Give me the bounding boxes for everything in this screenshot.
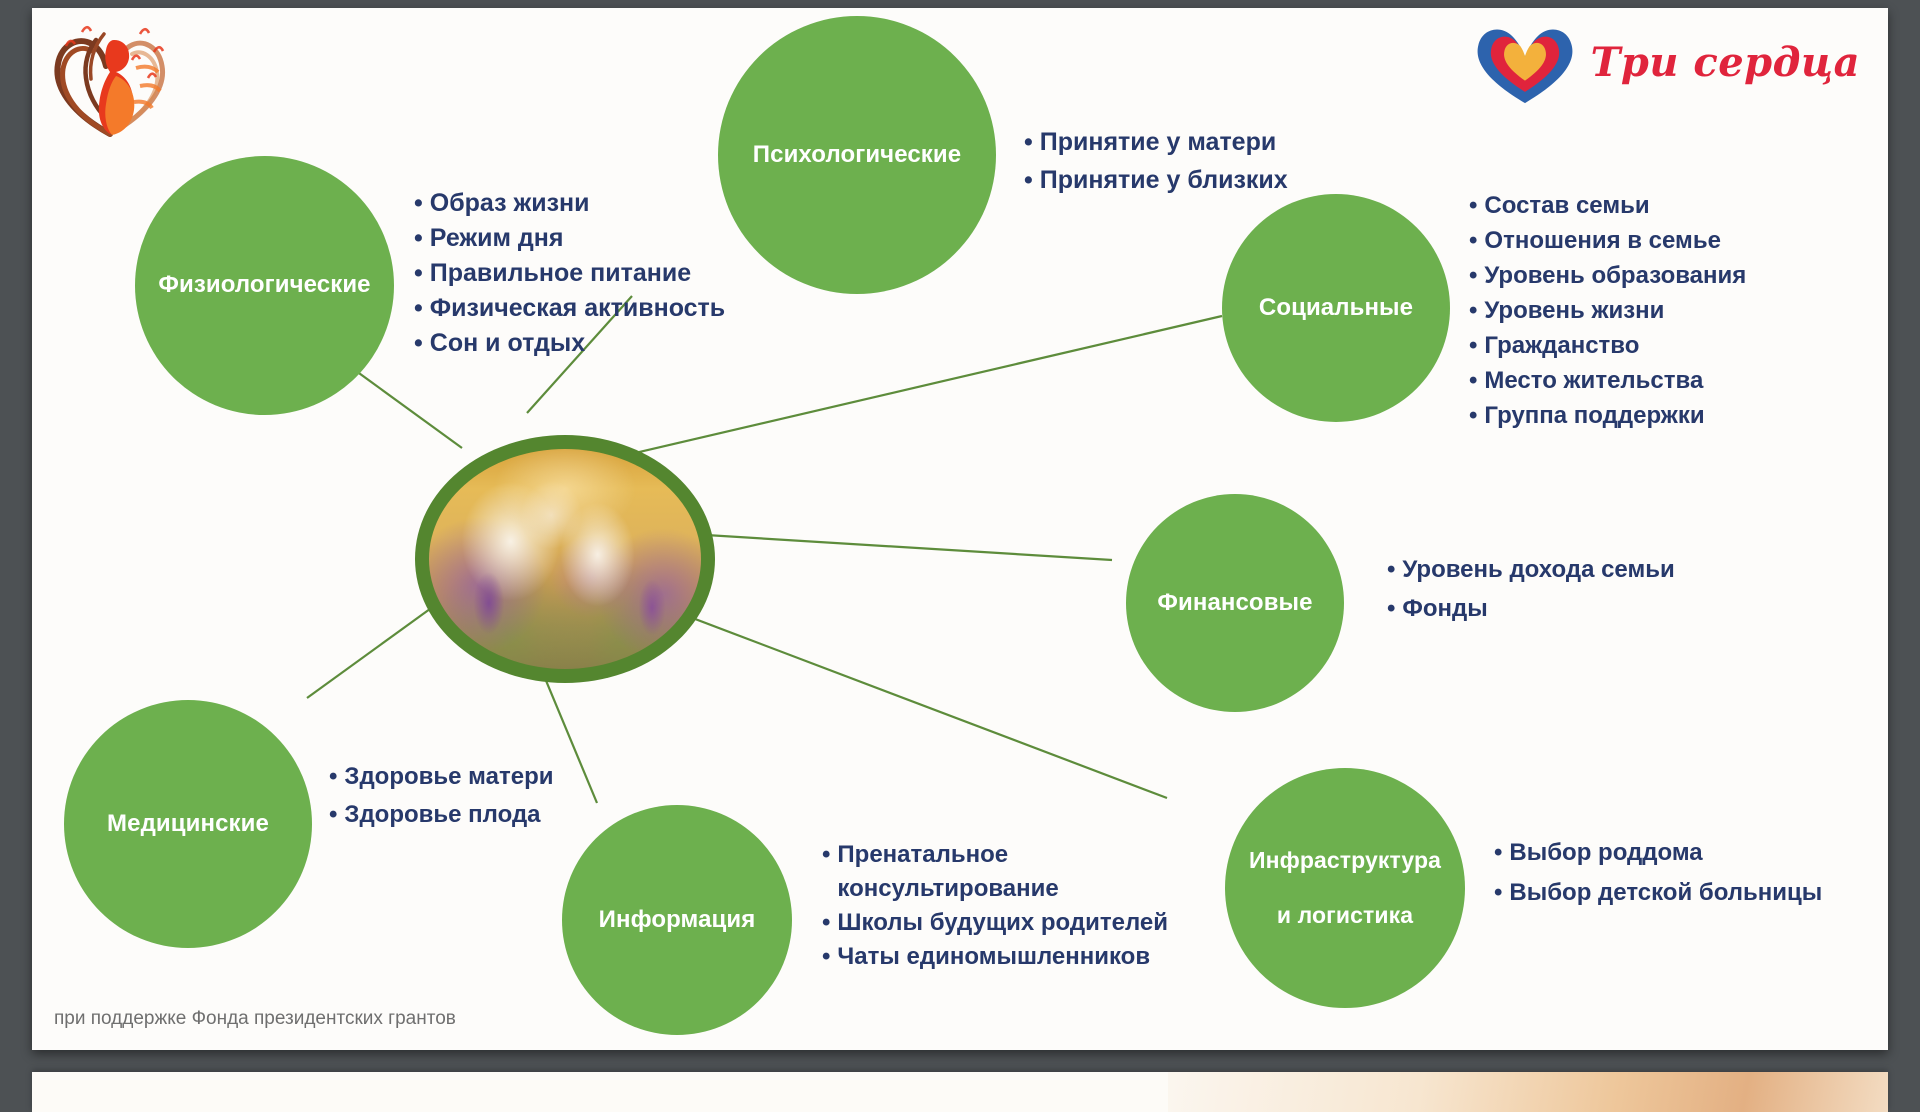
list-information: •Пренатальное консультирование •Школы бу… — [822, 838, 1192, 974]
bullet-icon: • — [1469, 398, 1477, 433]
list-item: •Отношения в семье — [1469, 223, 1746, 258]
family-photo-node — [415, 435, 715, 683]
bullet-icon: • — [1469, 328, 1477, 363]
list-social: •Состав семьи •Отношения в семье •Уровен… — [1469, 188, 1746, 433]
list-item: •Фонды — [1387, 589, 1675, 628]
bullet-icon: • — [1469, 258, 1477, 293]
list-physiological: •Образ жизни •Режим дня •Правильное пита… — [414, 186, 725, 361]
list-item: •Уровень жизни — [1469, 293, 1746, 328]
bullet-icon: • — [1387, 589, 1395, 628]
list-item: •Чаты единомышленников — [822, 940, 1192, 974]
list-item: •Место жительства — [1469, 363, 1746, 398]
list-item: •Гражданство — [1469, 328, 1746, 363]
list-item: •Физическая активность — [414, 291, 725, 326]
footer-credit: при поддержке Фонда президентских гранто… — [54, 1008, 456, 1030]
family-photo — [429, 449, 701, 669]
node-financial[interactable]: Финансовые — [1126, 494, 1344, 712]
screen: Три сердца Физиологические •Образ жизни … — [0, 0, 1920, 1080]
bullet-icon: • — [1494, 833, 1502, 873]
list-medical: •Здоровье матери •Здоровье плода — [329, 758, 553, 834]
logo-wordmark: Три сердца — [1591, 39, 1860, 86]
list-item: •Сон и отдых — [414, 326, 725, 361]
bullet-icon: • — [822, 906, 830, 940]
pregnant-woman-heart-logo — [44, 16, 176, 144]
list-item: •Образ жизни — [414, 186, 725, 221]
bullet-icon: • — [1469, 188, 1477, 223]
list-item: •Выбор роддома — [1494, 833, 1822, 873]
node-physiological[interactable]: Физиологические — [135, 156, 394, 415]
bullet-icon: • — [1469, 223, 1477, 258]
bullet-icon: • — [414, 291, 423, 326]
bullet-icon: • — [822, 838, 830, 872]
bullet-icon: • — [1469, 363, 1477, 398]
list-item: •Группа поддержки — [1469, 398, 1746, 433]
node-infrastructure[interactable]: Инфраструктураи логистика — [1225, 768, 1465, 1008]
list-item: •Здоровье плода — [329, 796, 553, 834]
list-item: •Принятие у матери — [1024, 123, 1288, 161]
list-item: •Выбор детской больницы — [1494, 873, 1822, 913]
node-medical[interactable]: Медицинские — [64, 700, 312, 948]
node-medical-label: Медицинские — [99, 810, 277, 838]
bullet-icon: • — [822, 940, 830, 974]
bullet-icon: • — [1494, 873, 1502, 913]
list-item: •Режим дня — [414, 221, 725, 256]
node-infrastructure-label: Инфраструктураи логистика — [1233, 847, 1457, 928]
bullet-icon: • — [1469, 293, 1477, 328]
bullet-icon: • — [1024, 161, 1033, 199]
list-financial: •Уровень дохода семьи •Фонды — [1387, 550, 1675, 628]
list-item: •Уровень образования — [1469, 258, 1746, 293]
list-item: •Правильное питание — [414, 256, 725, 291]
node-psychological[interactable]: Психологические — [718, 16, 996, 294]
list-item: •Пренатальное консультирование — [822, 838, 1192, 906]
list-item: •Уровень дохода семьи — [1387, 550, 1675, 589]
bullet-icon: • — [414, 221, 423, 256]
bullet-icon: • — [414, 326, 423, 361]
list-item: •Состав семьи — [1469, 188, 1746, 223]
bullet-icon: • — [414, 186, 423, 221]
list-psychological: •Принятие у матери •Принятие у близких — [1024, 123, 1288, 199]
bullet-icon: • — [329, 758, 337, 796]
three-hearts-icon — [1469, 17, 1581, 107]
list-item: •Школы будущих родителей — [822, 906, 1192, 940]
tri-serdtsa-logo: Три сердца — [1469, 16, 1860, 108]
node-social-label: Социальные — [1251, 294, 1421, 322]
node-physiological-label: Физиологические — [150, 271, 378, 299]
bullet-icon: • — [414, 256, 423, 291]
list-item: •Здоровье матери — [329, 758, 553, 796]
list-item: •Принятие у близких — [1024, 161, 1288, 199]
node-financial-label: Финансовые — [1149, 589, 1320, 617]
slide-next-preview[interactable] — [32, 1072, 1888, 1112]
node-psychological-label: Психологические — [745, 141, 969, 169]
list-infrastructure: •Выбор роддома •Выбор детской больницы — [1494, 833, 1822, 913]
bullet-icon: • — [329, 796, 337, 834]
bullet-icon: • — [1387, 550, 1395, 589]
slide-current: Три сердца Физиологические •Образ жизни … — [32, 8, 1888, 1050]
bullet-icon: • — [1024, 123, 1033, 161]
next-slide-photo — [1168, 1072, 1888, 1112]
node-information[interactable]: Информация — [562, 805, 792, 1035]
node-social[interactable]: Социальные — [1222, 194, 1450, 422]
node-information-label: Информация — [591, 906, 764, 934]
